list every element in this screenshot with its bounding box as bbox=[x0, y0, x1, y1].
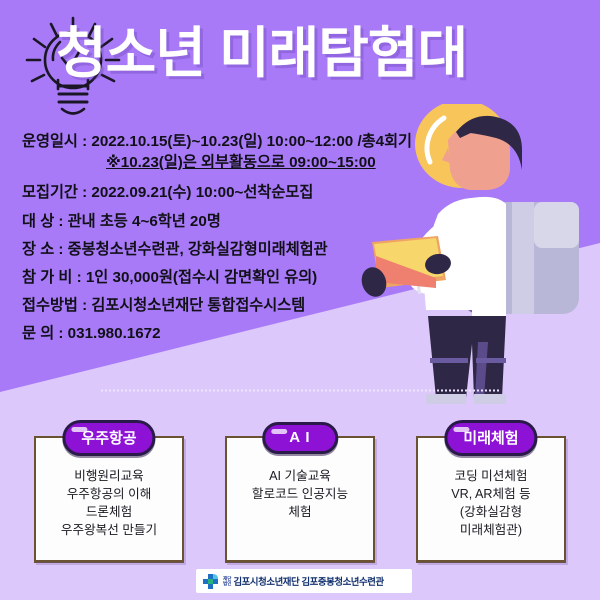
info-label: 모집기간 bbox=[22, 185, 78, 200]
info-row-schedule: 운영일시 : 2022.10.15(토)~10.23(일) 10:00~12:0… bbox=[22, 134, 452, 149]
info-value: 031.980.1672 bbox=[68, 326, 161, 341]
program-badge: 미래체험 bbox=[444, 420, 537, 456]
info-value: 2022.10.15(토)~10.23(일) 10:00~12:00 /총4회기 bbox=[91, 134, 412, 149]
info-value: 중봉청소년수련관, 강화실감형미래체험관 bbox=[68, 242, 328, 257]
info-value: 김포시청소년재단 통합접수시스템 bbox=[91, 298, 305, 313]
info-note: ※10.23(일)은 외부활동으로 09:00~15:00 bbox=[22, 155, 452, 170]
info-separator: : bbox=[54, 214, 68, 229]
info-row-target: 대 상 : 관내 초등 4~6학년 20명 bbox=[22, 214, 452, 229]
info-separator: : bbox=[72, 270, 86, 285]
info-label: 문 의 bbox=[22, 326, 54, 341]
info-row-contact: 문 의 : 031.980.1672 bbox=[22, 326, 452, 341]
info-row-how-to-apply: 접수방법 : 김포시청소년재단 통합접수시스템 bbox=[22, 298, 452, 313]
dotted-divider bbox=[100, 389, 500, 392]
program-description: 비행원리교육 우주항공의 이해 드론체험 우주왕복선 만들기 bbox=[36, 468, 182, 540]
info-row-fee: 참 가 비 : 1인 30,000원(접수시 감면확인 유의) bbox=[22, 270, 452, 285]
info-label: 운영일시 bbox=[22, 134, 78, 149]
info-label: 대 상 bbox=[22, 214, 54, 229]
info-label: 참 가 비 bbox=[22, 270, 72, 285]
program-cards: 우주항공 비행원리교육 우주항공의 이해 드론체험 우주왕복선 만들기 AI A… bbox=[0, 424, 600, 564]
program-description: AI 기술교육 할로코드 인공지능 체험 bbox=[227, 468, 373, 522]
info-separator: : bbox=[54, 242, 68, 257]
poster-canvas: 청소년 미래탐험대 bbox=[0, 0, 600, 600]
info-separator: : bbox=[78, 298, 92, 313]
info-separator: : bbox=[54, 326, 68, 341]
info-label: 접수방법 bbox=[22, 298, 78, 313]
footer-logo-bar: 재단 법인 김포시청소년재단 김포중봉청소년수련관 bbox=[196, 569, 412, 593]
program-badge: 우주항공 bbox=[62, 420, 155, 456]
program-badge: AI bbox=[262, 422, 338, 454]
info-separator: : bbox=[78, 134, 92, 149]
info-row-venue: 장 소 : 중봉청소년수련관, 강화실감형미래체험관 bbox=[22, 242, 452, 257]
info-row-application-period: 모집기간 : 2022.09.21(수) 10:00~선착순모집 bbox=[22, 185, 452, 200]
info-block: 운영일시 : 2022.10.15(토)~10.23(일) 10:00~12:0… bbox=[22, 134, 452, 355]
program-card-future[interactable]: 미래체험 코딩 미션체험 VR, AR체험 등 (강화실감형 미래체험관) bbox=[416, 436, 566, 562]
foundation-type-label: 재단 법인 bbox=[223, 576, 231, 587]
program-card-ai[interactable]: AI AI 기술교육 할로코드 인공지능 체험 bbox=[225, 436, 375, 562]
foundation-logo-mark-icon bbox=[202, 573, 219, 590]
info-value: 1인 30,000원(접수시 감면확인 유의) bbox=[86, 270, 317, 285]
info-value: 관내 초등 4~6학년 20명 bbox=[68, 214, 221, 229]
foundation-name: 김포시청소년재단 김포중봉청소년수련관 bbox=[233, 574, 383, 588]
program-card-aerospace[interactable]: 우주항공 비행원리교육 우주항공의 이해 드론체험 우주왕복선 만들기 bbox=[34, 436, 184, 562]
info-label: 장 소 bbox=[22, 242, 54, 257]
page-title: 청소년 미래탐험대 bbox=[56, 26, 467, 81]
program-description: 코딩 미션체험 VR, AR체험 등 (강화실감형 미래체험관) bbox=[418, 468, 564, 540]
info-separator: : bbox=[78, 185, 92, 200]
info-value: 2022.09.21(수) 10:00~선착순모집 bbox=[91, 185, 313, 200]
